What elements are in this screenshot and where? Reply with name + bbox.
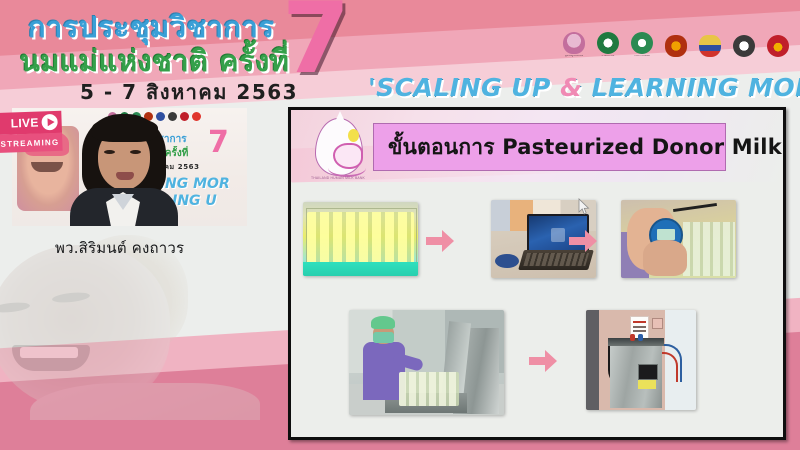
red-knob — [630, 334, 635, 341]
surgical-mask-icon — [373, 332, 394, 343]
logo-caption: กรมอนามัย — [594, 55, 622, 58]
milk-drop-yellow-large — [348, 129, 359, 142]
slide-title-text: ขั้นตอนการ Pasteurized Donor Milk — [388, 131, 782, 164]
live-label: LIVE — [11, 116, 39, 131]
machine-label-sticker — [638, 380, 656, 389]
computer-mouse — [495, 254, 519, 268]
poster-logo-7 — [180, 112, 189, 121]
tagline-part2: LEARNING MORE' — [582, 73, 800, 102]
milk-bottles-tray — [683, 222, 735, 276]
sponsor-logos-strip: มูลนิธิศูนย์นมแม่ กรมอนามัย กรมการแพทย์ — [560, 28, 800, 58]
wall-switch-plate — [652, 318, 663, 329]
royal-college-logo — [662, 28, 690, 58]
conference-tagline: 'SCALING UP & LEARNING MORE' — [368, 73, 800, 102]
watermark-body — [30, 383, 260, 420]
ministry-public-health-logo-icon — [597, 32, 619, 54]
ministry-public-health-logo: กรมอนามัย — [594, 28, 622, 58]
speaker-eye-left — [104, 150, 115, 154]
red-crest-logo — [764, 28, 792, 58]
arrow-right-3 — [528, 348, 558, 374]
play-icon — [41, 114, 58, 131]
speaker-fringe — [92, 118, 158, 142]
royal-patronage-logo-icon — [563, 32, 585, 54]
step-pasteurizer-machine — [586, 310, 696, 410]
watermark-teeth — [20, 347, 78, 358]
cradling-arms-icon — [328, 159, 366, 177]
blue-knob — [638, 334, 643, 341]
thai-emblem-logo — [696, 28, 724, 58]
logo-caption: กรมการแพทย์ — [628, 55, 656, 58]
step-thermometer-check — [621, 200, 736, 278]
human-milk-bank-logo: THAILAND HUMAN MILK BANK — [307, 118, 369, 190]
conference-date: 5 - 7 สิงหาคม 2563 — [80, 76, 298, 108]
department-health-logo-icon — [631, 32, 653, 54]
notice-lines — [633, 321, 646, 323]
speaker-name-caption: พว.สิริมนต์ คงถาวร — [55, 236, 184, 260]
live-label-row: LIVE — [0, 111, 62, 136]
university-seal-logo — [730, 28, 758, 58]
bottles-in-basket — [399, 372, 459, 406]
second-hand — [643, 240, 687, 276]
screenshot-root: การประชุมวิชาการ นมแม่แห่งชาติ ครั้งที่ … — [0, 0, 800, 450]
thermometer-probe — [673, 203, 717, 212]
streaming-label: STREAMING — [0, 137, 59, 148]
step-nurse-loading — [349, 310, 504, 415]
machine-display-screen — [638, 364, 658, 380]
poster-edition-number: 7 — [208, 128, 229, 158]
logo-caption: มูลนิธิศูนย์นมแม่ — [560, 55, 588, 58]
poster-logo-8 — [192, 112, 201, 121]
tagline-ampersand: & — [560, 73, 582, 102]
speaker-mouth — [116, 172, 134, 180]
streaming-label-row: STREAMING — [0, 133, 63, 153]
department-health-logo: กรมการแพทย์ — [628, 28, 656, 58]
thai-emblem-logo-icon — [699, 35, 721, 57]
bottles-row — [307, 212, 414, 264]
milk-drop-icon — [315, 118, 363, 176]
university-seal-logo-icon — [733, 35, 755, 57]
arrow-right-1 — [425, 228, 455, 254]
baby-watermark-image — [0, 235, 265, 420]
red-crest-logo-icon — [767, 35, 789, 57]
step-bottles-rack — [303, 202, 418, 276]
machine-top-panel — [608, 338, 664, 346]
conference-edition-number: 7 — [282, 0, 350, 88]
surgical-cap-icon — [371, 316, 395, 329]
logo-caption-text: THAILAND HUMAN MILK BANK — [307, 176, 369, 180]
tagline-part1: 'SCALING UP — [368, 73, 560, 102]
royal-patronage-logo: มูลนิธิศูนย์นมแม่ — [560, 28, 588, 58]
rack-base — [303, 262, 418, 276]
arrow-right-2 — [568, 228, 598, 254]
royal-college-logo-icon — [665, 35, 687, 57]
speaker-person — [68, 114, 178, 226]
slide-title-banner: ขั้นตอนการ Pasteurized Donor Milk — [373, 123, 726, 171]
speaker-eye-right — [130, 150, 141, 154]
presentation-slide[interactable]: THAILAND HUMAN MILK BANK ขั้นตอนการ Past… — [288, 107, 786, 440]
live-streaming-badge: LIVE STREAMING — [0, 111, 63, 156]
